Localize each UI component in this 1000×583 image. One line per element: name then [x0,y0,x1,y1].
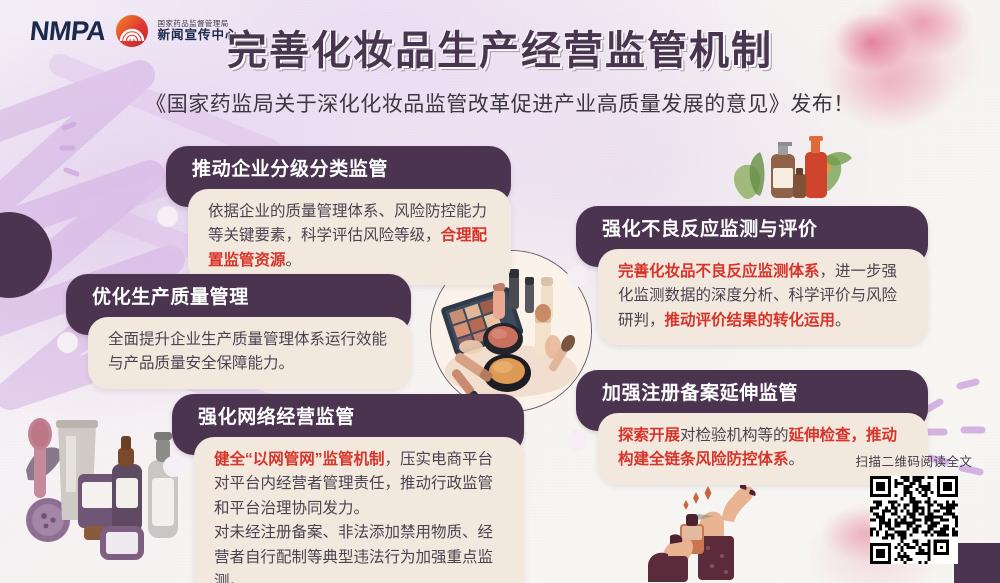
purple-circle-decoration [0,212,52,298]
card-body: 健全“以网管网”监管机制，压实电商平台对平台内经营者管理责任，推动行政监管和平台… [194,437,524,583]
dashed-lines-decoration-left [58,118,94,188]
card-notch [567,430,588,451]
body-text: 。 [286,252,302,269]
card-paragraph: 对未经注册备案、非法添加禁用物质、经营者自行配制等典型违法行为加强重点监测。 [214,521,504,583]
infographic-poster: NMPA 国家药品监督管理局 新闻宣传中心 完善化妆品生产经营监管机制 《国家药… [0,0,1000,583]
qr-code-full-text[interactable] [870,476,958,564]
body-text: 。 [835,312,851,329]
highlight-text: 健全“以网管网”监管机制 [214,451,385,468]
body-text: 对未经注册备案、非法添加禁用物质、经营者自行配制等典型违法行为加强重点监测。 [214,524,493,583]
body-text: 全面提升企业生产质量管理体系运行效能与产品质量安全保障能力。 [108,331,387,372]
toiletry-bottles-watercolor-image [8,408,184,578]
card-adverse-reaction-monitoring[interactable]: 强化不良反应监测与评价 完善化妆品不良反应监测体系，进一步强化监测数据的深度分析… [576,206,928,345]
card-notch [163,456,184,477]
card-notch [157,206,178,227]
highlight-text: 推动评价结果的转化运用 [665,312,836,329]
qr-block[interactable]: 扫描二维码阅读全文 [844,451,984,569]
page-title: 完善化妆品生产经营监管机制 [0,18,1000,76]
card-paragraph: 完善化妆品不良反应监测体系，进一步强化监测数据的深度分析、科学评价与风险研判，推… [618,260,908,333]
body-text: 。 [789,451,805,468]
highlight-text: 探索开展 [618,427,680,444]
card-notch [57,332,78,353]
card-paragraph: 全面提升企业生产质量管理体系运行效能与产品质量安全保障能力。 [108,328,391,377]
card-online-business-supervision[interactable]: 强化网络经营监管 健全“以网管网”监管机制，压实电商平台对平台内经营者管理责任，… [172,394,524,583]
card-body: 完善化妆品不良反应监测体系，进一步强化监测数据的深度分析、科学评价与风险研判，推… [598,249,928,345]
qr-caption: 扫描二维码阅读全文 [844,451,984,470]
card-optimize-production-quality[interactable]: 优化生产质量管理 全面提升企业生产质量管理体系运行效能与产品质量安全保障能力。 [66,274,411,389]
skincare-bottles-image [726,128,858,216]
card-body: 全面提升企业生产质量管理体系运行效能与产品质量安全保障能力。 [88,317,411,389]
card-tiered-classified-supervision[interactable]: 推动企业分级分类监管 依据企业的质量管理体系、风险防控能力等关键要素，科学评估风… [166,146,511,285]
card-body: 依据企业的质量管理体系、风险防控能力等关键要素，科学评估风险等级，合理配置监管资… [188,189,511,285]
hands-perfume-illustration [636,470,818,583]
body-text: 对检验机构等的 [680,427,789,444]
highlight-text: 完善化妆品不良反应监测体系 [618,263,820,280]
card-paragraph: 健全“以网管网”监管机制，压实电商平台对平台内经营者管理责任，推动行政监管和平台… [214,448,504,521]
card-notch [567,266,588,287]
page-subtitle: 《国家药监局关于深化化妆品监管改革促进产业高质量发展的意见》发布！ [0,88,1000,118]
card-paragraph: 依据企业的质量管理体系、风险防控能力等关键要素，科学评估风险等级，合理配置监管资… [208,200,491,273]
